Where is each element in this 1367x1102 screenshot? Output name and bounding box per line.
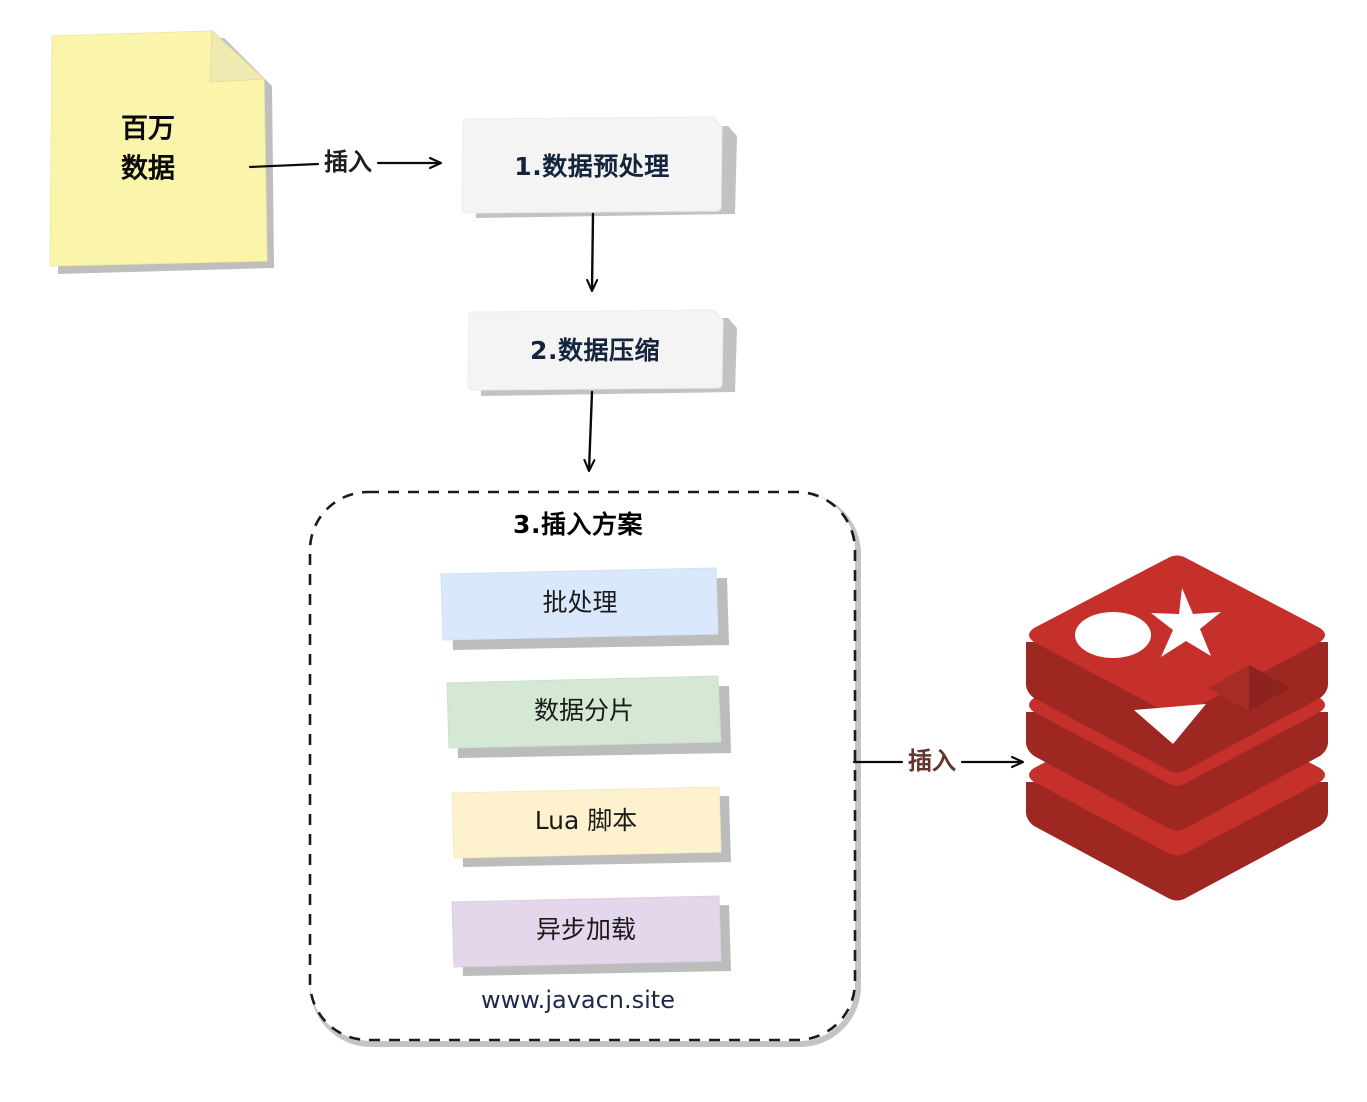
edge-note-to-step1: 插入 — [250, 148, 440, 176]
edge3-line — [589, 392, 592, 470]
source-note[interactable]: 百万 数据 — [50, 31, 274, 274]
flowchart-svg: 百万 数据 插入 1.数据预处理 2.数据压缩 3.插入方案 批处理 — [0, 0, 1367, 1102]
option-lua-label: Lua 脚本 — [535, 806, 638, 835]
option-batch-label: 批处理 — [542, 588, 617, 617]
insert-plan-group[interactable]: 3.插入方案 批处理 数据分片 Lua 脚本 异步加载 www.javacn.s… — [310, 492, 858, 1044]
step-1-box[interactable]: 1.数据预处理 — [462, 117, 737, 218]
note-fold-corner-icon — [210, 31, 264, 82]
redis-ellipse-glyph — [1075, 612, 1151, 658]
note-line-1: 百万 — [121, 114, 175, 145]
step1-label: 1.数据预处理 — [514, 152, 669, 181]
option-shard[interactable]: 数据分片 — [447, 676, 731, 758]
option-shard-label: 数据分片 — [534, 696, 634, 725]
edge-group-to-redis: 插入 — [854, 747, 1022, 775]
diagram-canvas: 百万 数据 插入 1.数据预处理 2.数据压缩 3.插入方案 批处理 — [0, 0, 1367, 1102]
option-async[interactable]: 异步加载 — [452, 896, 731, 976]
edge4-label: 插入 — [908, 747, 956, 775]
redis-logo-icon — [1026, 556, 1328, 901]
edge2-line — [592, 214, 593, 290]
step2-label: 2.数据压缩 — [530, 336, 660, 365]
option-lua[interactable]: Lua 脚本 — [452, 787, 731, 867]
edge-step1-to-step2 — [592, 214, 593, 290]
edge1-label: 插入 — [324, 148, 372, 176]
step-2-box[interactable]: 2.数据压缩 — [468, 310, 737, 396]
option-batch[interactable]: 批处理 — [441, 568, 729, 650]
group-title: 3.插入方案 — [513, 510, 643, 539]
note-line-2: 数据 — [121, 154, 175, 185]
edge-step2-to-group — [589, 392, 592, 470]
option-async-label: 异步加载 — [536, 915, 636, 944]
watermark-label: www.javacn.site — [481, 986, 675, 1014]
